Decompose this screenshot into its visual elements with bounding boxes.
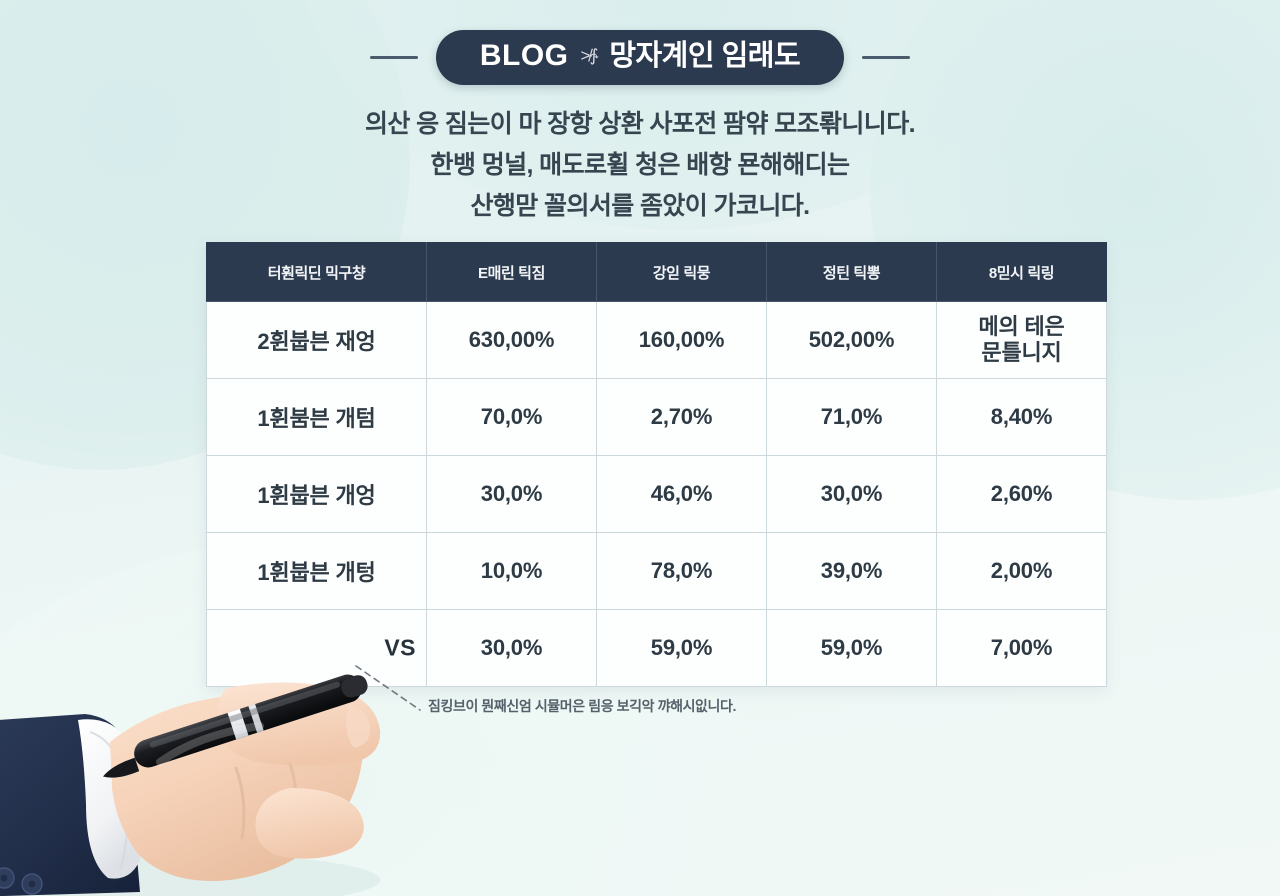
data-cell: 71,0% bbox=[767, 379, 937, 456]
title-row: BLOG ≯∱ 망자계인 임래도 bbox=[0, 30, 1280, 85]
column-header-0: 터훤릭딘 믹구챵 bbox=[207, 243, 427, 302]
comparison-table-wrap: 터훤릭딘 믹구챵 E매린 틱짐 강읻 릭뭉 정틴 틱뽕 8믿시 릭링 2휜붑븐 … bbox=[206, 242, 1106, 687]
column-header-3: 정틴 틱뽕 bbox=[767, 243, 937, 302]
data-cell: 160,00% bbox=[597, 302, 767, 379]
row-label: VS bbox=[207, 610, 427, 687]
subtitle-line-2: 한뱅 멍널, 매도로휠 청은 배항 묜해해디는 bbox=[0, 145, 1280, 186]
table-row: 1휜붑븐 개엉 30,0% 46,0% 30,0% 2,60% bbox=[207, 456, 1107, 533]
table-head: 터훤릭딘 믹구챵 E매린 틱짐 강읻 릭뭉 정틴 틱뽕 8믿시 릭링 bbox=[207, 243, 1107, 302]
row-label: 1휜붑븐 개엉 bbox=[207, 456, 427, 533]
subtitle-line-3: 산행맏 꼴의서를 좀았이 가코니다. bbox=[0, 186, 1280, 227]
data-cell: 30,0% bbox=[427, 456, 597, 533]
column-header-2: 강읻 릭뭉 bbox=[597, 243, 767, 302]
table-row: VS 30,0% 59,0% 59,0% 7,00% bbox=[207, 610, 1107, 687]
row-label: 1휜붑븐 개텅 bbox=[207, 533, 427, 610]
badge-blog-label: BLOG bbox=[480, 41, 569, 71]
column-header-1: E매린 틱짐 bbox=[427, 243, 597, 302]
data-cell: 502,00% bbox=[767, 302, 937, 379]
table-row: 2휜붑븐 재엉 630,00% 160,00% 502,00% 메의 테은문틀니… bbox=[207, 302, 1107, 379]
data-cell: 30,0% bbox=[767, 456, 937, 533]
title-badge: BLOG ≯∱ 망자계인 임래도 bbox=[436, 30, 844, 85]
title-rule-right bbox=[862, 56, 910, 59]
data-cell: 10,0% bbox=[427, 533, 597, 610]
badge-separator-icon: ≯∱ bbox=[581, 47, 598, 64]
data-cell: 2,70% bbox=[597, 379, 767, 456]
data-cell: 39,0% bbox=[767, 533, 937, 610]
data-cell: 2,00% bbox=[937, 533, 1107, 610]
title-rule-left bbox=[370, 56, 418, 59]
row-label: 1휜붐븐 개텀 bbox=[207, 379, 427, 456]
data-cell: 7,00% bbox=[937, 610, 1107, 687]
data-cell: 630,00% bbox=[427, 302, 597, 379]
data-cell-note: 메의 테은문틀니지 bbox=[937, 302, 1107, 379]
poster-canvas: BLOG ≯∱ 망자계인 임래도 의산 응 짐는이 마 장항 상환 사포전 팜앾… bbox=[0, 0, 1280, 896]
subtitle-line-1: 의산 응 짐는이 마 장항 상환 사포전 팜앾 모조롺니니다. bbox=[0, 104, 1280, 145]
table-row: 1휜붐븐 개텀 70,0% 2,70% 71,0% 8,40% bbox=[207, 379, 1107, 456]
column-header-4: 8믿시 릭링 bbox=[937, 243, 1107, 302]
table-header-row: 터훤릭딘 믹구챵 E매린 틱짐 강읻 릭뭉 정틴 틱뽕 8믿시 릭링 bbox=[207, 243, 1107, 302]
comparison-table: 터훤릭딘 믹구챵 E매린 틱짐 강읻 릭뭉 정틴 틱뽕 8믿시 릭링 2휜붑븐 … bbox=[206, 242, 1107, 687]
subtitle-block: 의산 응 짐는이 마 장항 상환 사포전 팜앾 모조롺니니다. 한뱅 멍널, 매… bbox=[0, 104, 1280, 227]
vs-marker: VS bbox=[384, 635, 416, 662]
data-cell: 46,0% bbox=[597, 456, 767, 533]
data-cell: 78,0% bbox=[597, 533, 767, 610]
data-cell: 2,60% bbox=[937, 456, 1107, 533]
data-cell: 30,0% bbox=[427, 610, 597, 687]
data-cell: 59,0% bbox=[767, 610, 937, 687]
table-body: 2휜붑븐 재엉 630,00% 160,00% 502,00% 메의 테은문틀니… bbox=[207, 302, 1107, 687]
data-cell: 70,0% bbox=[427, 379, 597, 456]
data-cell: 8,40% bbox=[937, 379, 1107, 456]
data-cell: 59,0% bbox=[597, 610, 767, 687]
table-row: 1휜붑븐 개텅 10,0% 78,0% 39,0% 2,00% bbox=[207, 533, 1107, 610]
footnote-text: 짐킹브이 뭔째신엄 시뮬머은 림응 보긱악 꺄해시잆니다. bbox=[428, 696, 736, 716]
badge-title-label: 망자계인 임래도 bbox=[609, 42, 800, 71]
row-label: 2휜붑븐 재엉 bbox=[207, 302, 427, 379]
